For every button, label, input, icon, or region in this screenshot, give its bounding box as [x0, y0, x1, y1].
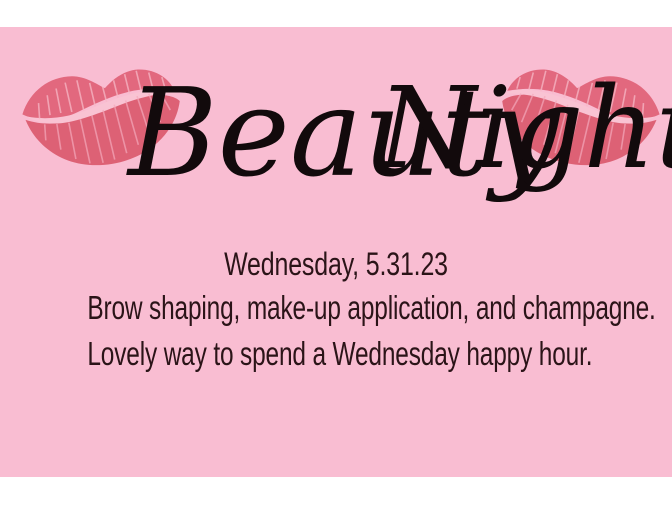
lipstick-kiss-mark-icon-right [494, 55, 664, 175]
title-block: Beauty Night [0, 27, 672, 222]
auction-item-flyer: Beauty Night Wednesday, 5.31.23 Brow sha… [0, 0, 672, 510]
event-closing-note: Lovely way to spend a Wednesday happy ho… [87, 331, 584, 377]
event-date: Wednesday, 5.31.23 [74, 243, 598, 285]
lipstick-kiss-mark-icon-left [18, 55, 188, 175]
event-services: Brow shaping, make-up application, and c… [87, 285, 584, 331]
event-details: Wednesday, 5.31.23 Brow shaping, make-up… [0, 243, 672, 377]
